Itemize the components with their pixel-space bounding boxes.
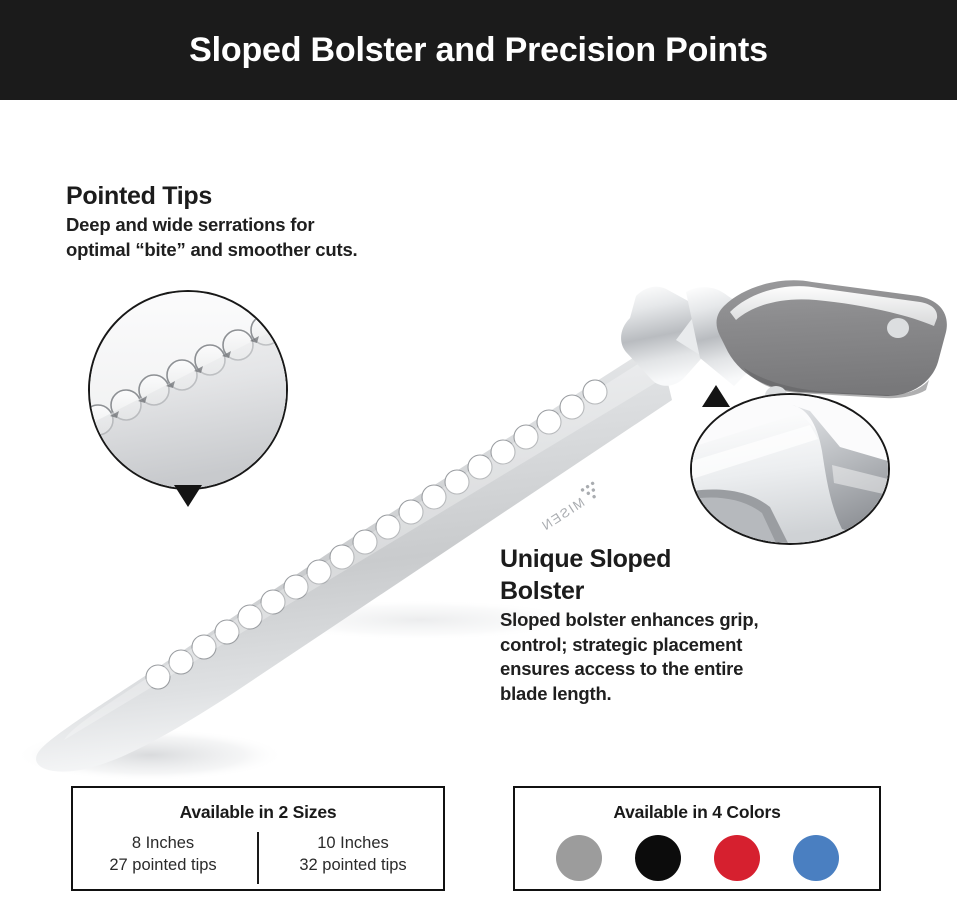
callout-pointed-tips: Pointed Tips Deep and wide serrations fo… [66,180,406,262]
callout-sloped-bolster: Unique Sloped Bolster Sloped bolster enh… [500,543,790,706]
callout-body-pointed-tips: Deep and wide serrations for optimal “bi… [66,213,406,262]
callout-body-line: blade length. [500,682,790,707]
size-label: 10 Inches [263,833,443,855]
header-banner: Sloped Bolster and Precision Points [0,0,957,100]
callout-body-line: optimal “bite” and smoother cuts. [66,238,406,263]
callout-body-sloped-bolster: Sloped bolster enhances grip, control; s… [500,608,790,706]
callout-body-line: Sloped bolster enhances grip, [500,608,790,633]
pointer-triangle-serrations [174,485,202,507]
available-colors-title: Available in 4 Colors [515,802,879,823]
callout-body-line: ensures access to the entire [500,657,790,682]
brand-mark: MISEN [536,481,603,534]
magnifier-bolster [690,393,890,545]
size-option-10-inches: 10 Inches 32 pointed tips [263,832,443,884]
size-tips-label: 32 pointed tips [263,855,443,877]
handle-rivet [887,318,909,338]
page-title: Sloped Bolster and Precision Points [189,33,768,67]
color-swatch-black[interactable] [635,835,681,881]
sizes-divider [257,832,259,884]
size-tips-label: 27 pointed tips [73,855,253,877]
callout-body-line: control; strategic placement [500,633,790,658]
callout-heading-line: Bolster [500,575,790,607]
knife-bolster [621,287,773,386]
color-swatch-row [515,835,879,881]
callout-heading-sloped-bolster: Unique Sloped Bolster [500,543,790,607]
knife-handle [717,280,947,406]
size-label: 8 Inches [73,833,253,855]
size-option-8-inches: 8 Inches 27 pointed tips [73,832,253,884]
color-swatch-blue[interactable] [793,835,839,881]
sizes-row: 8 Inches 27 pointed tips 10 Inches 32 po… [73,832,443,884]
color-swatch-red[interactable] [714,835,760,881]
available-colors-box: Available in 4 Colors [513,786,881,891]
magnifier-serrations [88,290,288,490]
color-swatch-gray[interactable] [556,835,602,881]
svg-text:MISEN: MISEN [538,495,587,534]
callout-body-line: Deep and wide serrations for [66,213,406,238]
available-sizes-title: Available in 2 Sizes [73,802,443,823]
callout-heading-pointed-tips: Pointed Tips [66,180,406,212]
available-sizes-box: Available in 2 Sizes 8 Inches 27 pointed… [71,786,445,891]
infographic-page: Sloped Bolster and Precision Points [0,0,957,904]
pointer-triangle-bolster [702,385,730,407]
callout-heading-line: Unique Sloped [500,543,790,575]
